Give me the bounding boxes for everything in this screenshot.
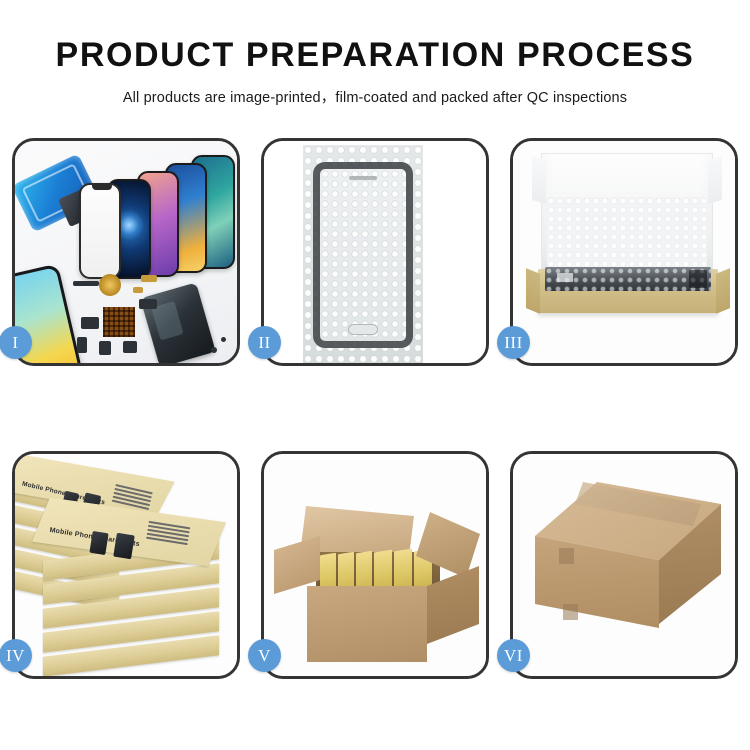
- step-badge-2: II: [248, 326, 281, 359]
- page-title: PRODUCT PREPARATION PROCESS: [0, 36, 750, 75]
- foam-padding: [547, 197, 707, 273]
- page-subtitle: All products are image-printed，film-coat…: [0, 86, 750, 107]
- home-button: [348, 324, 378, 335]
- connector-grid-part: [103, 307, 135, 337]
- part-flex-2: [77, 337, 87, 353]
- process-step-4: Mobile Phone Spare Parts Mobile Phone Sp…: [12, 451, 240, 679]
- part-screw-1: [211, 347, 217, 353]
- step-badge-5: V: [248, 639, 281, 672]
- step-badge-3: III: [497, 326, 530, 359]
- panel-5-image: [264, 454, 486, 676]
- panel-2-image: [264, 141, 486, 363]
- header: PRODUCT PREPARATION PROCESS All products…: [0, 0, 750, 107]
- earpiece-slot: [349, 176, 377, 180]
- packed-screen: [545, 267, 711, 291]
- step-badge-1: I: [0, 326, 32, 359]
- panel-4-image: Mobile Phone Spare Parts Mobile Phone Sp…: [15, 454, 237, 676]
- carton-front-face: [307, 586, 427, 662]
- step-badge-4: IV: [0, 639, 32, 672]
- carton-handle-tab-top: [559, 548, 574, 564]
- carton-handle-tab-bottom: [563, 604, 578, 620]
- panel-3-image: [513, 141, 735, 363]
- wireless-coil-part: [99, 274, 121, 296]
- process-step-5: V: [261, 451, 489, 679]
- part-flex-4: [139, 299, 157, 309]
- wrapped-phone-screen: [313, 162, 413, 348]
- phone-backplate: [140, 282, 216, 363]
- part-flex-3: [123, 341, 137, 353]
- process-step-1: I: [12, 138, 240, 366]
- part-gold-1: [141, 275, 157, 282]
- process-step-2: II: [261, 138, 489, 366]
- part-screw-cluster: [99, 341, 111, 355]
- box-art-swatch-f1: [89, 531, 108, 555]
- box-art-swatch-f2: [113, 533, 135, 560]
- panel-6-image: [513, 454, 735, 676]
- process-step-grid: I II III: [12, 138, 738, 679]
- part-screw-2: [221, 337, 226, 342]
- part-gold-2: [133, 287, 143, 293]
- part-flex-1: [81, 317, 99, 329]
- part-strip-1: [73, 281, 99, 286]
- panel-1-image: [15, 141, 237, 363]
- process-step-6: VI: [510, 451, 738, 679]
- step-badge-6: VI: [497, 639, 530, 672]
- product-preparation-infographic: PRODUCT PREPARATION PROCESS All products…: [0, 0, 750, 750]
- process-step-3: III: [510, 138, 738, 366]
- phone-display-1: [79, 183, 121, 279]
